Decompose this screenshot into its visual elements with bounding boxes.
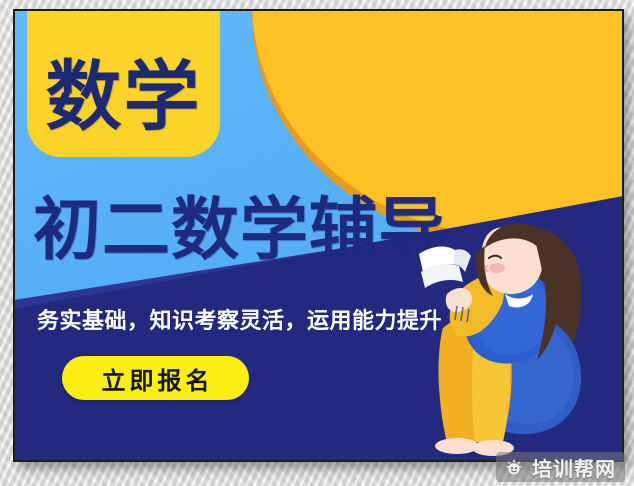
enroll-now-button[interactable]: 立即报名 xyxy=(62,356,249,400)
watermark-text: 培训帮网 xyxy=(532,453,616,482)
screenshot-root: 数学 初二数学辅导 务实基础，知识考察灵活，运用能力提升 立即报名 xyxy=(0,0,634,486)
site-watermark: 培训帮网 xyxy=(496,452,625,482)
poster-subtitle: 务实基础，知识考察灵活，运用能力提升 xyxy=(37,311,442,333)
subject-badge-label: 数学 xyxy=(46,59,202,157)
girl-reading-book-illustration xyxy=(401,210,616,460)
subject-badge: 数学 xyxy=(27,9,220,157)
smiling-sun-face-icon xyxy=(503,456,525,478)
poster-headline: 初二数学辅导 xyxy=(33,197,447,265)
course-poster: 数学 初二数学辅导 务实基础，知识考察灵活，运用能力提升 立即报名 xyxy=(13,9,624,462)
